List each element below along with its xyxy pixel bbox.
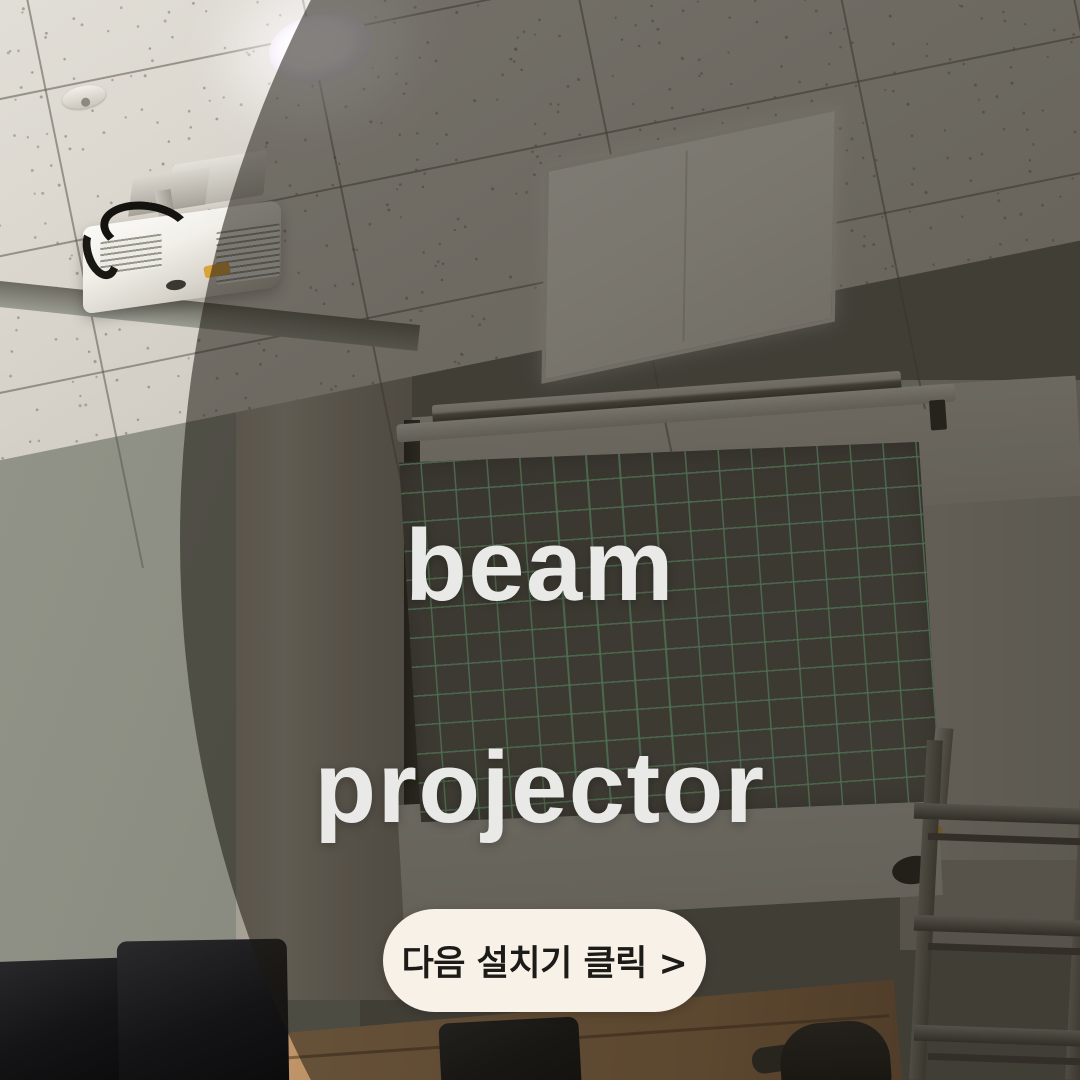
office-chair [0, 957, 132, 1080]
office-chair [117, 939, 290, 1080]
headline-line-1: beam [0, 517, 1080, 616]
ceiling-projector [78, 162, 308, 322]
ladder-brace [928, 943, 1080, 956]
promo-card: beam projector 다음 설치기 클릭 > [0, 0, 1080, 1080]
ladder-step [914, 1025, 1080, 1048]
page-title: beam projector [0, 418, 1080, 937]
ladder-brace [928, 1053, 1080, 1066]
next-installer-button-label: 다음 설치기 클릭 > [402, 935, 688, 986]
office-chair [438, 1016, 581, 1080]
projector-vent-right [216, 223, 279, 284]
headline-line-2: projector [0, 739, 1080, 838]
next-installer-button[interactable]: 다음 설치기 클릭 > [383, 909, 706, 1012]
